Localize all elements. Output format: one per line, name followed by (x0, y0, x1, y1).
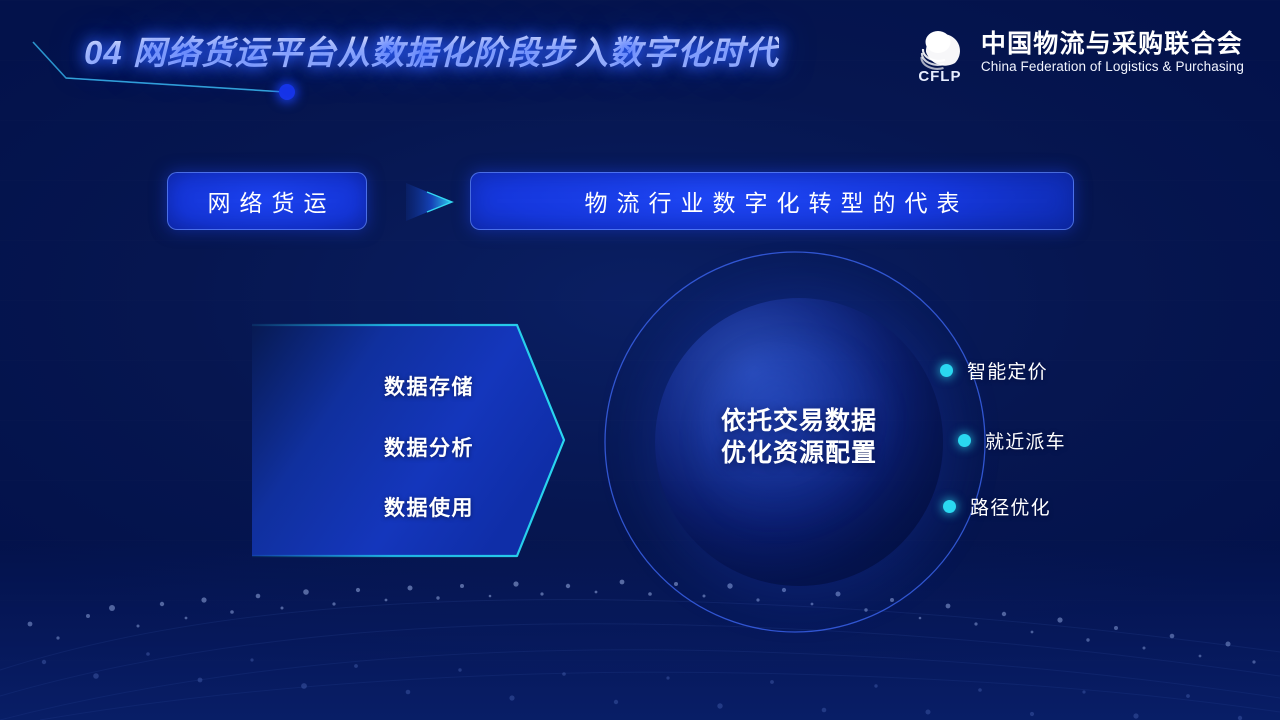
bullet-dot-icon (940, 364, 953, 377)
bullet-item-3[interactable]: 路径优化 (943, 493, 1051, 520)
chevron-item-1: 数据存储 (334, 371, 524, 401)
cflp-name-cn: 中国物流与采购联合会 (981, 32, 1244, 57)
banner-pill-left-label: 网络货运 (199, 184, 336, 218)
cflp-logo-text: 中国物流与采购联合会 China Federation of Logistics… (981, 32, 1244, 74)
slide-header: 04 网络货运平台从数据化阶段步入数字化时代 04 网络货运平台从数据化阶段步入… (0, 0, 1280, 108)
cflp-logo: CFLP 中国物流与采购联合会 China Federation of Logi… (912, 20, 1244, 86)
bullet-dot-icon (958, 434, 971, 447)
banner-pill-right-label: 物流行业数字化转型的代表 (576, 184, 969, 218)
benefit-bullet-list: 智能定价 就近派车 路径优化 (930, 340, 1230, 540)
cflp-name-en: China Federation of Logistics & Purchasi… (981, 60, 1244, 74)
sphere-text-line-1: 依托交易数据 (655, 405, 943, 437)
chevron-item-3: 数据使用 (334, 492, 524, 522)
data-chevron-block: 数据存储 数据分析 数据使用 (252, 318, 602, 563)
chevron-label-list: 数据存储 数据分析 数据使用 (252, 318, 602, 563)
banner-pill-left[interactable]: 网络货运 (167, 172, 367, 230)
cflp-abbreviation: CFLP (912, 69, 968, 84)
chevron-item-2: 数据分析 (334, 432, 524, 462)
banner-pill-right[interactable]: 物流行业数字化转型的代表 (470, 172, 1074, 230)
title-accent-dot (279, 84, 295, 100)
banner-row: 网络货运 物流行业数字化转型的代表 (0, 172, 1280, 234)
sphere-text: 依托交易数据 优化资源配置 (655, 405, 943, 469)
slide-canvas: 04 网络货运平台从数据化阶段步入数字化时代 04 网络货运平台从数据化阶段步入… (0, 0, 1280, 720)
sphere-text-line-2: 优化资源配置 (655, 437, 943, 469)
bullet-item-1[interactable]: 智能定价 (940, 357, 1048, 384)
bullet-label-1: 智能定价 (967, 357, 1048, 384)
bullet-label-2: 就近派车 (985, 427, 1066, 454)
bullet-item-2[interactable]: 就近派车 (958, 427, 1066, 454)
page-title: 04 网络货运平台从数据化阶段步入数字化时代 (84, 26, 779, 74)
bullet-dot-icon (943, 500, 956, 513)
bullet-label-3: 路径优化 (970, 493, 1051, 520)
cflp-logo-mark: CFLP (912, 22, 968, 84)
triangle-right-icon (403, 180, 455, 224)
